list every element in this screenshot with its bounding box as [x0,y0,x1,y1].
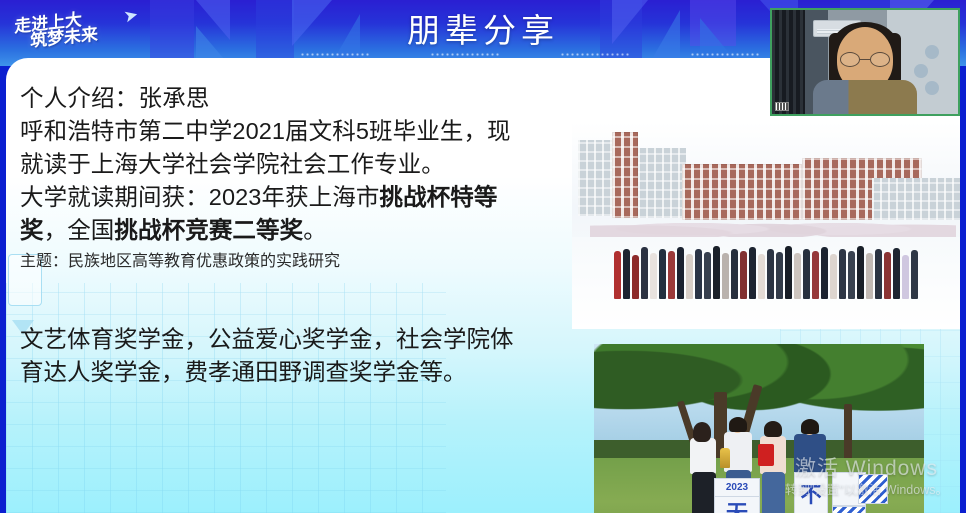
photo-box-char-2: 不 [794,472,828,513]
photo-box-stripe [858,474,888,504]
topic-line: 主题：民族地区高等教育优惠政策的实践研究 [20,247,520,277]
presenter-camera-pip[interactable] [770,8,960,116]
photo-crowd [614,237,924,301]
photo-red-certificate [758,444,774,466]
photo-person-hair [729,417,747,432]
presentation-slide: 朋辈分享 走进上大 筑梦未来 ➤ 个人介绍：张承思 呼和浩特市第二中学2021届… [0,0,966,513]
photo-box-stripe [832,506,866,513]
awards-bold-1: 挑战杯 [379,184,450,210]
photo-tree-canopy [594,344,924,458]
content-card: 个人介绍：张承思 呼和浩特市第二中学2021届文科5班毕业生，现就读于上海大学社… [6,58,960,513]
photo-box-year: 2023 [714,478,760,498]
photo-building [612,132,638,218]
brand-logo: 走进上大 筑梦未来 ➤ [6,2,142,64]
awards-middle: ，全国 [44,217,115,243]
photo-building [578,140,612,216]
camera-curtain [772,10,805,114]
photo-person-hair [801,419,819,434]
eyeglasses-icon [840,52,890,67]
group-photo-snow [572,122,960,329]
awards-prefix: 大学就读期间获：2023年获上海市 [20,184,379,210]
photo-person-hair [764,421,782,437]
photo-person-pants [762,472,785,513]
scholarships-paragraph: 文艺体育奖学金，公益爱心奖学金，社会学院体育达人奖学金，费孝通田野调查奖学金等。 [20,323,520,389]
awards-bold-2: 挑战杯竞赛二等奖 [114,217,303,243]
photo-person-hair [693,422,711,442]
photo-box-char-1: 无 [714,496,760,513]
photo-tree-trunk [844,404,852,466]
logo-text: 走进上大 筑梦未来 [14,6,133,53]
campus-award-photo: 2023 无 挑 不 战 [594,344,924,513]
awards-suffix: 。 [303,217,327,243]
awards-paragraph: 大学就读期间获：2023年获上海市挑战杯特等奖，全国挑战杯竞赛二等奖。 [20,181,520,247]
photo-trophy [720,448,730,468]
text-column: 个人介绍：张承思 呼和浩特市第二中学2021届文科5班毕业生，现就读于上海大学社… [20,82,520,389]
photo-person-skirt [692,472,716,513]
camera-badge-icon [775,102,789,111]
bio-paragraph: 呼和浩特市第二中学2021届文科5班毕业生，现就读于上海大学社会学院社会工作专业… [20,115,520,181]
intro-line: 个人介绍：张承思 [20,82,520,115]
photo-person [690,438,716,474]
spacer [20,277,520,323]
